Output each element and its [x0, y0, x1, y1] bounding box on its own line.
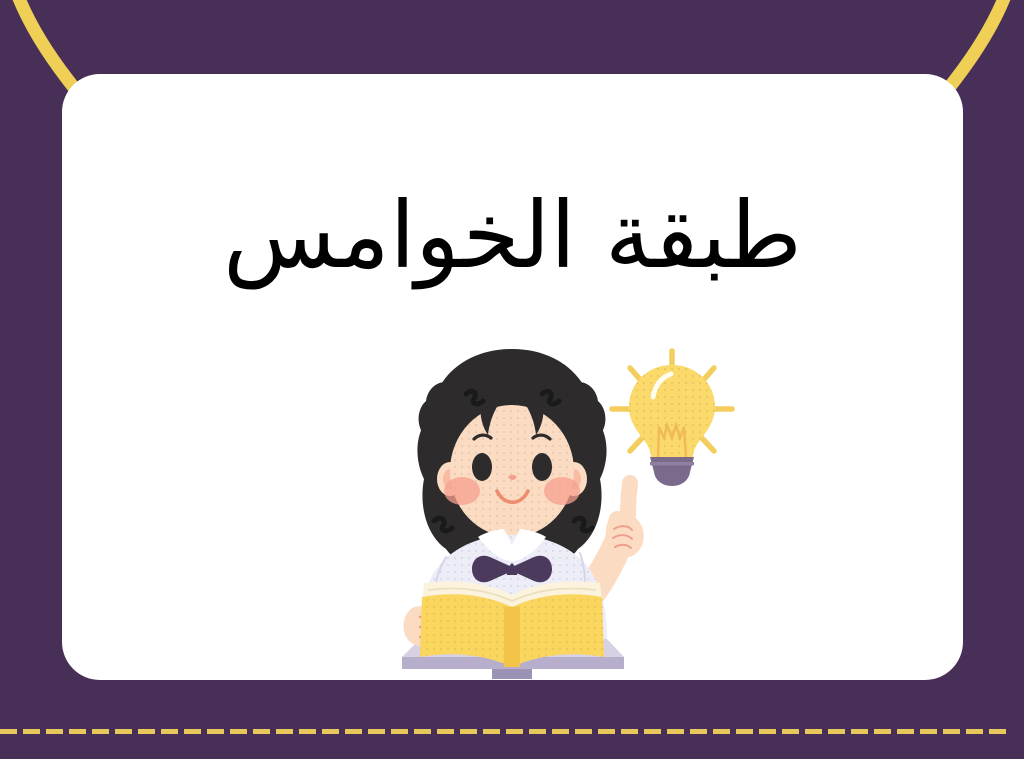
- dash-segment: [897, 729, 914, 734]
- dash-segment: [207, 729, 224, 734]
- dash-segment: [414, 729, 431, 734]
- dash-segment: [276, 729, 293, 734]
- lightbulb-base: [650, 457, 694, 486]
- index-finger: [628, 483, 630, 515]
- dash-segment: [621, 729, 638, 734]
- desk-leg: [492, 669, 532, 679]
- cheek-left: [444, 477, 480, 505]
- dash-segment: [828, 729, 845, 734]
- dash-segment: [874, 729, 891, 734]
- dash-segment: [161, 729, 178, 734]
- dash-segment: [529, 729, 546, 734]
- lightbulb-icon: [612, 351, 732, 486]
- eye-right: [532, 453, 552, 481]
- dash-segment: [0, 729, 17, 734]
- dash-segment: [782, 729, 799, 734]
- dash-segment: [667, 729, 684, 734]
- bottom-dashed-rule: [0, 729, 1024, 734]
- girl-character: [403, 349, 643, 667]
- dash-segment: [736, 729, 753, 734]
- slide-root: طبقة الخوامس: [0, 0, 1024, 759]
- dash-segment: [299, 729, 316, 734]
- dash-segment: [184, 729, 201, 734]
- face-texture: [450, 405, 574, 537]
- dash-segment: [23, 729, 40, 734]
- dash-segment: [805, 729, 822, 734]
- dash-segment: [989, 729, 1006, 734]
- dash-segment: [506, 729, 523, 734]
- dash-segment: [253, 729, 270, 734]
- content-card: طبقة الخوامس: [62, 74, 963, 680]
- dash-segment: [138, 729, 155, 734]
- dash-segment: [368, 729, 385, 734]
- dash-segment: [644, 729, 661, 734]
- dash-segment: [598, 729, 615, 734]
- dash-segment: [345, 729, 362, 734]
- page-title: طبقة الخوامس: [62, 186, 963, 285]
- dash-segment: [943, 729, 960, 734]
- dash-segment: [437, 729, 454, 734]
- dash-segment: [69, 729, 86, 734]
- lightbulb-base-ring: [650, 462, 694, 465]
- dash-segment: [460, 729, 477, 734]
- dash-segment: [851, 729, 868, 734]
- cheek-right: [544, 477, 580, 505]
- dash-segment: [322, 729, 339, 734]
- dash-segment: [46, 729, 63, 734]
- dash-segment: [391, 729, 408, 734]
- dash-segment: [713, 729, 730, 734]
- lightbulb-glass-dots: [629, 365, 715, 457]
- dash-segment: [230, 729, 247, 734]
- book-spine: [504, 607, 520, 667]
- dash-segment: [552, 729, 569, 734]
- dash-segment: [966, 729, 983, 734]
- dash-segment: [759, 729, 776, 734]
- dash-segment: [115, 729, 132, 734]
- dash-segment: [920, 729, 937, 734]
- dash-segment: [92, 729, 109, 734]
- girl-reading-illustration: [362, 339, 762, 679]
- eye-left: [472, 453, 492, 481]
- dash-segment: [575, 729, 592, 734]
- dash-segment: [483, 729, 500, 734]
- dash-segment: [690, 729, 707, 734]
